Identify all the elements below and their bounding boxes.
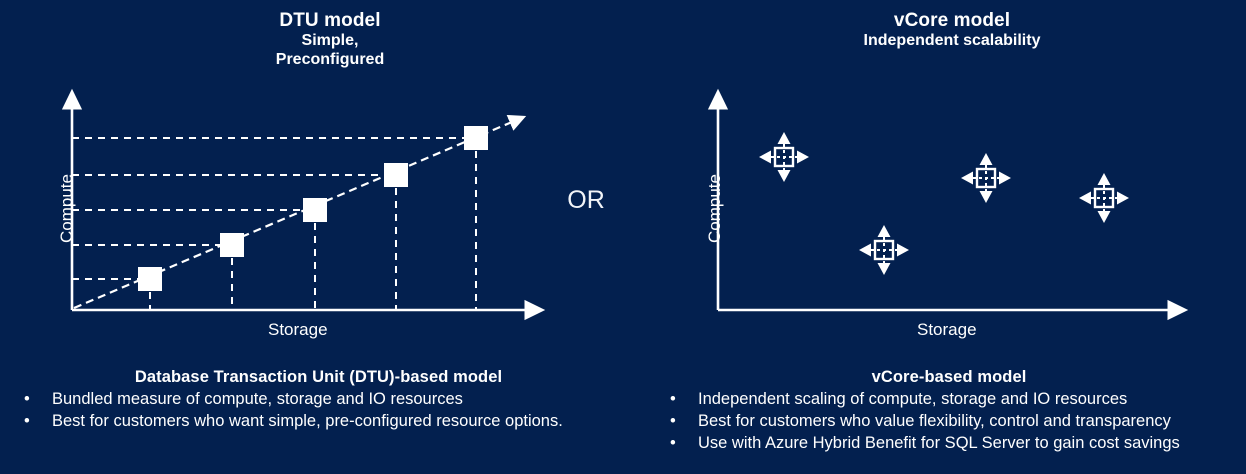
dtu-marker xyxy=(464,126,488,150)
list-item-text: Best for customers who value flexibility… xyxy=(698,412,1171,430)
move-resize-icon xyxy=(961,153,1011,203)
list-item-text: Independent scaling of compute, storage … xyxy=(698,390,1127,408)
dtu-caption: Database Transaction Unit (DTU)-based mo… xyxy=(6,368,631,433)
slide-canvas: DTU model Simple, Preconfigured vCore mo… xyxy=(0,0,1246,474)
list-item-text: Use with Azure Hybrid Benefit for SQL Se… xyxy=(698,434,1180,452)
or-divider-label: OR xyxy=(556,186,616,215)
dtu-y-axis-label: Compute xyxy=(57,174,77,243)
move-resize-icon xyxy=(1079,173,1129,223)
vcore-caption-title: vCore-based model xyxy=(652,368,1246,387)
left-panel-subtitle-line2: Preconfigured xyxy=(160,51,500,70)
dtu-caption-title: Database Transaction Unit (DTU)-based mo… xyxy=(6,368,631,387)
dtu-marker xyxy=(303,198,327,222)
left-panel-heading: DTU model Simple, Preconfigured xyxy=(160,10,500,69)
dtu-data-markers xyxy=(138,126,488,291)
bullet-icon: • xyxy=(670,411,676,433)
vcore-data-markers xyxy=(759,132,1129,275)
move-resize-icon xyxy=(859,225,909,275)
vcore-bullet-list: • Independent scaling of compute, storag… xyxy=(652,389,1246,454)
list-item: • Bundled measure of compute, storage an… xyxy=(6,389,631,411)
dtu-leader-lines-horizontal xyxy=(72,138,476,279)
vcore-chart xyxy=(690,95,1220,345)
vcore-caption: vCore-based model • Independent scaling … xyxy=(652,368,1246,454)
bullet-icon: • xyxy=(24,389,30,411)
right-panel-title: vCore model xyxy=(782,10,1122,32)
dtu-chart-svg xyxy=(30,95,550,345)
list-item: • Best for customers who want simple, pr… xyxy=(6,411,631,433)
bullet-icon: • xyxy=(670,433,676,455)
vcore-chart-svg xyxy=(690,95,1220,345)
right-panel-heading: vCore model Independent scalability xyxy=(782,10,1122,51)
dtu-marker xyxy=(220,233,244,257)
list-item: • Best for customers who value flexibili… xyxy=(652,411,1246,433)
dtu-bullet-list: • Bundled measure of compute, storage an… xyxy=(6,389,631,433)
list-item: • Use with Azure Hybrid Benefit for SQL … xyxy=(652,433,1246,455)
list-item: • Independent scaling of compute, storag… xyxy=(652,389,1246,411)
dtu-marker xyxy=(138,267,162,291)
left-panel-subtitle-line1: Simple, xyxy=(160,32,500,51)
left-panel-title: DTU model xyxy=(160,10,500,32)
move-resize-icon xyxy=(759,132,809,182)
dtu-leader-lines-vertical xyxy=(150,138,476,310)
list-item-text: Best for customers who want simple, pre-… xyxy=(52,412,563,430)
dtu-marker xyxy=(384,163,408,187)
dtu-chart xyxy=(30,95,550,345)
list-item-text: Bundled measure of compute, storage and … xyxy=(52,390,463,408)
bullet-icon: • xyxy=(24,411,30,433)
dtu-x-axis-label: Storage xyxy=(268,320,328,340)
vcore-y-axis-label: Compute xyxy=(705,174,725,243)
bullet-icon: • xyxy=(670,389,676,411)
right-panel-subtitle-line1: Independent scalability xyxy=(782,32,1122,51)
vcore-x-axis-label: Storage xyxy=(917,320,977,340)
